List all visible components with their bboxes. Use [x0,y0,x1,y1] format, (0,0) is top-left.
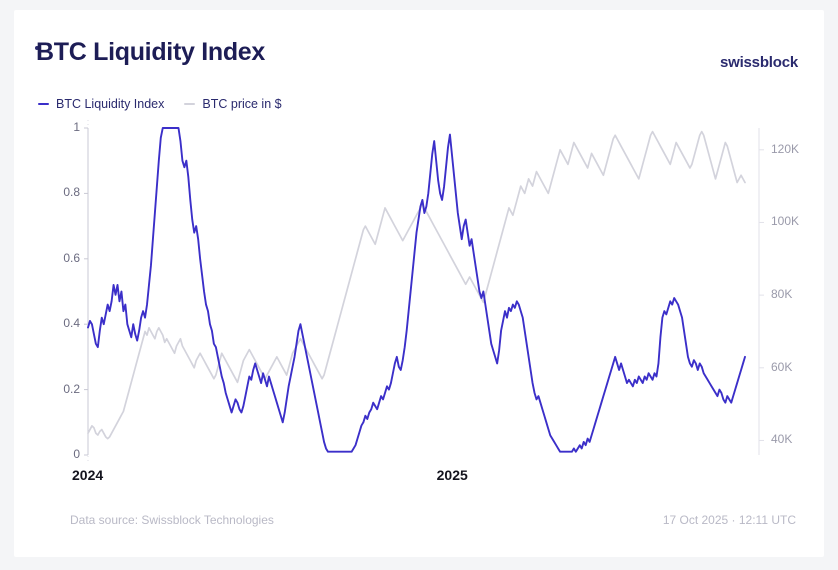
y-tick-left: 0.4 [63,316,80,330]
chart-card: BTC Liquidity Index swissblock BTC Liqui… [14,10,824,557]
x-tick-2024: 2024 [72,467,103,483]
y-tick-left: 0 [73,447,80,461]
y-tick-left: 0.2 [63,382,80,396]
y-tick-right: 80K [771,287,792,301]
y-tick-right: 100K [771,214,799,228]
y-tick-right: 120K [771,142,799,156]
y-tick-right: 40K [771,432,792,446]
chart-page: BTC Liquidity Index swissblock BTC Liqui… [0,0,838,570]
chart-plot [14,10,824,557]
y-tick-right: 60K [771,360,792,374]
y-tick-left: 0.6 [63,251,80,265]
x-tick-2025: 2025 [437,467,468,483]
y-tick-left: 1 [73,120,80,134]
footer-timestamp: 17 Oct 2025 · 12:11 UTC [663,513,796,527]
series-line-price [88,132,745,439]
series-line-liquidity [88,128,745,452]
y-tick-left: 0.8 [63,185,80,199]
footer-source: Data source: Swissblock Technologies [70,513,274,527]
